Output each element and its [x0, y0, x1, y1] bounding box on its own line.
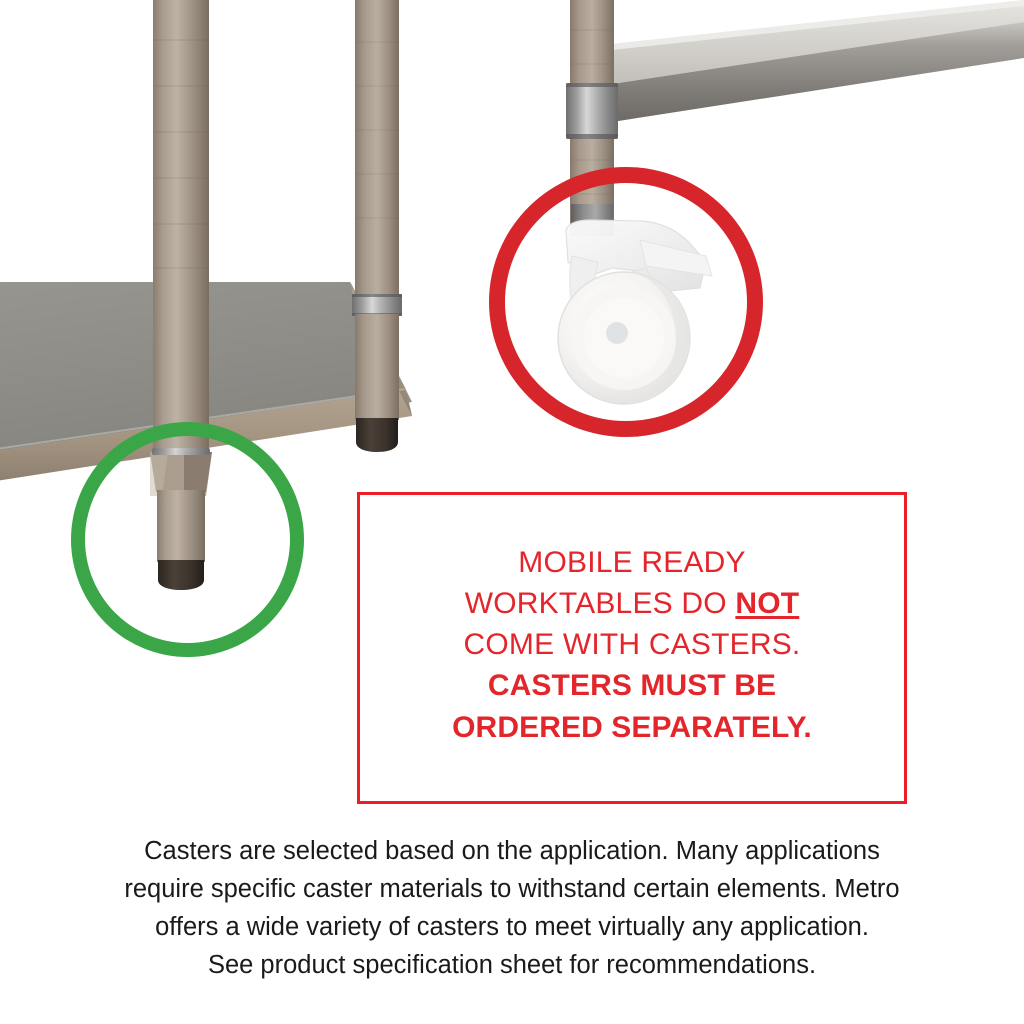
callout-line-1: MOBILE READY [518, 542, 745, 583]
description-line-4: See product specification sheet for reco… [62, 946, 962, 984]
callout-box: MOBILE READY WORKTABLES DO NOT COME WITH… [357, 492, 907, 804]
leveling-foot-glide [356, 418, 398, 452]
top-rail-diagonal [612, 0, 1024, 122]
green-highlight-circle-leg-foot [71, 422, 304, 657]
callout-line-3: COME WITH CASTERS. [464, 624, 801, 665]
description-paragraph: Casters are selected based on the applic… [62, 832, 962, 984]
callout-line-5: ORDERED SEPARATELY. [452, 707, 812, 749]
promo-graphic-canvas: MOBILE READY WORKTABLES DO NOT COME WITH… [0, 0, 1024, 1024]
front-right-post [352, 0, 402, 452]
callout-line-2-prefix: WORKTABLES DO [465, 587, 736, 620]
red-highlight-circle-caster [489, 167, 763, 437]
callout-line-2: WORKTABLES DO NOT [465, 583, 800, 624]
callout-line-4: CASTERS MUST BE [488, 665, 776, 707]
description-line-1: Casters are selected based on the applic… [62, 832, 962, 870]
description-line-3: offers a wide variety of casters to meet… [62, 908, 962, 946]
post-collar [352, 294, 402, 316]
callout-emphasis-not: NOT [735, 587, 799, 620]
post-collar [566, 83, 618, 139]
description-line-2: require specific caster materials to wit… [62, 870, 962, 908]
